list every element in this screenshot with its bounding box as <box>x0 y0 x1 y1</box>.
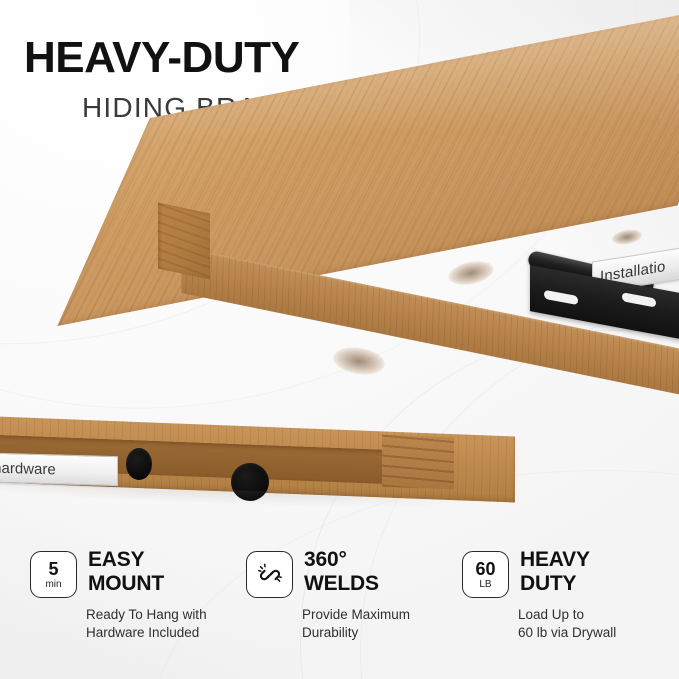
chain-weld-icon <box>246 551 293 598</box>
timer-5-min-icon: 5 min <box>30 551 77 598</box>
feature-title: EASY MOUNT <box>88 548 164 595</box>
feature-title: 360° WELDS <box>304 548 379 595</box>
feature-description-line2: Hardware Included <box>86 624 216 642</box>
weight-60-lb-icon: 60 LB <box>462 551 509 598</box>
feature-description-line2: 60 lb via Drywall <box>518 624 648 642</box>
badge-unit: LB <box>479 579 491 590</box>
feature-description-line1: Load Up to <box>518 606 648 624</box>
feature-description: Ready To Hang with Hardware Included <box>86 606 216 642</box>
wood-knot <box>331 344 386 378</box>
hero-product-photo: Installatio <box>0 112 679 387</box>
feature-title-line1: 360° <box>304 548 379 572</box>
feature-heading: 360° WELDS <box>246 548 432 598</box>
bracket-screw-slot <box>622 292 656 307</box>
product-marketing-image: HEAVY-DUTY HIDING BRACKET/ACCESSORY Inst… <box>0 0 679 679</box>
feature-title-line1: HEAVY <box>520 548 590 572</box>
feature-title-line2: WELDS <box>304 572 379 596</box>
feature-description-line1: Ready To Hang with <box>86 606 216 624</box>
feature-description-line1: Provide Maximum <box>302 606 432 624</box>
feature-description-line2: Durability <box>302 624 432 642</box>
wood-knot <box>611 228 643 247</box>
shelf-end-grain <box>158 202 210 279</box>
shelf-underside-end-grain <box>382 435 454 490</box>
mounting-hole <box>126 448 152 480</box>
feature-360-welds: 360° WELDS Provide Maximum Durability <box>216 548 432 658</box>
feature-title-line2: DUTY <box>520 572 590 596</box>
badge-value: 60 <box>475 560 495 578</box>
bracket-screw-slot <box>544 290 578 305</box>
hardware-label-sticker: ion hardware <box>0 452 118 486</box>
wood-knot <box>446 257 496 288</box>
feature-heading: 60 LB HEAVY DUTY <box>462 548 648 598</box>
feature-description: Provide Maximum Durability <box>302 606 432 642</box>
badge-value: 5 <box>48 560 58 578</box>
badge-unit: min <box>45 579 61 590</box>
feature-heavy-duty: 60 LB HEAVY DUTY Load Up to 60 lb via Dr… <box>432 548 648 658</box>
feature-title: HEAVY DUTY <box>520 548 590 595</box>
feature-easy-mount: 5 min EASY MOUNT Ready To Hang with Hard… <box>0 548 216 658</box>
hardware-label-text: ion hardware <box>0 458 56 478</box>
feature-badges-row: 5 min EASY MOUNT Ready To Hang with Hard… <box>0 548 679 658</box>
feature-title-line2: MOUNT <box>88 572 164 596</box>
feature-description: Load Up to 60 lb via Drywall <box>518 606 648 642</box>
feature-title-line1: EASY <box>88 548 164 572</box>
feature-heading: 5 min EASY MOUNT <box>30 548 216 598</box>
underside-product-photo: ion hardware <box>0 418 679 518</box>
